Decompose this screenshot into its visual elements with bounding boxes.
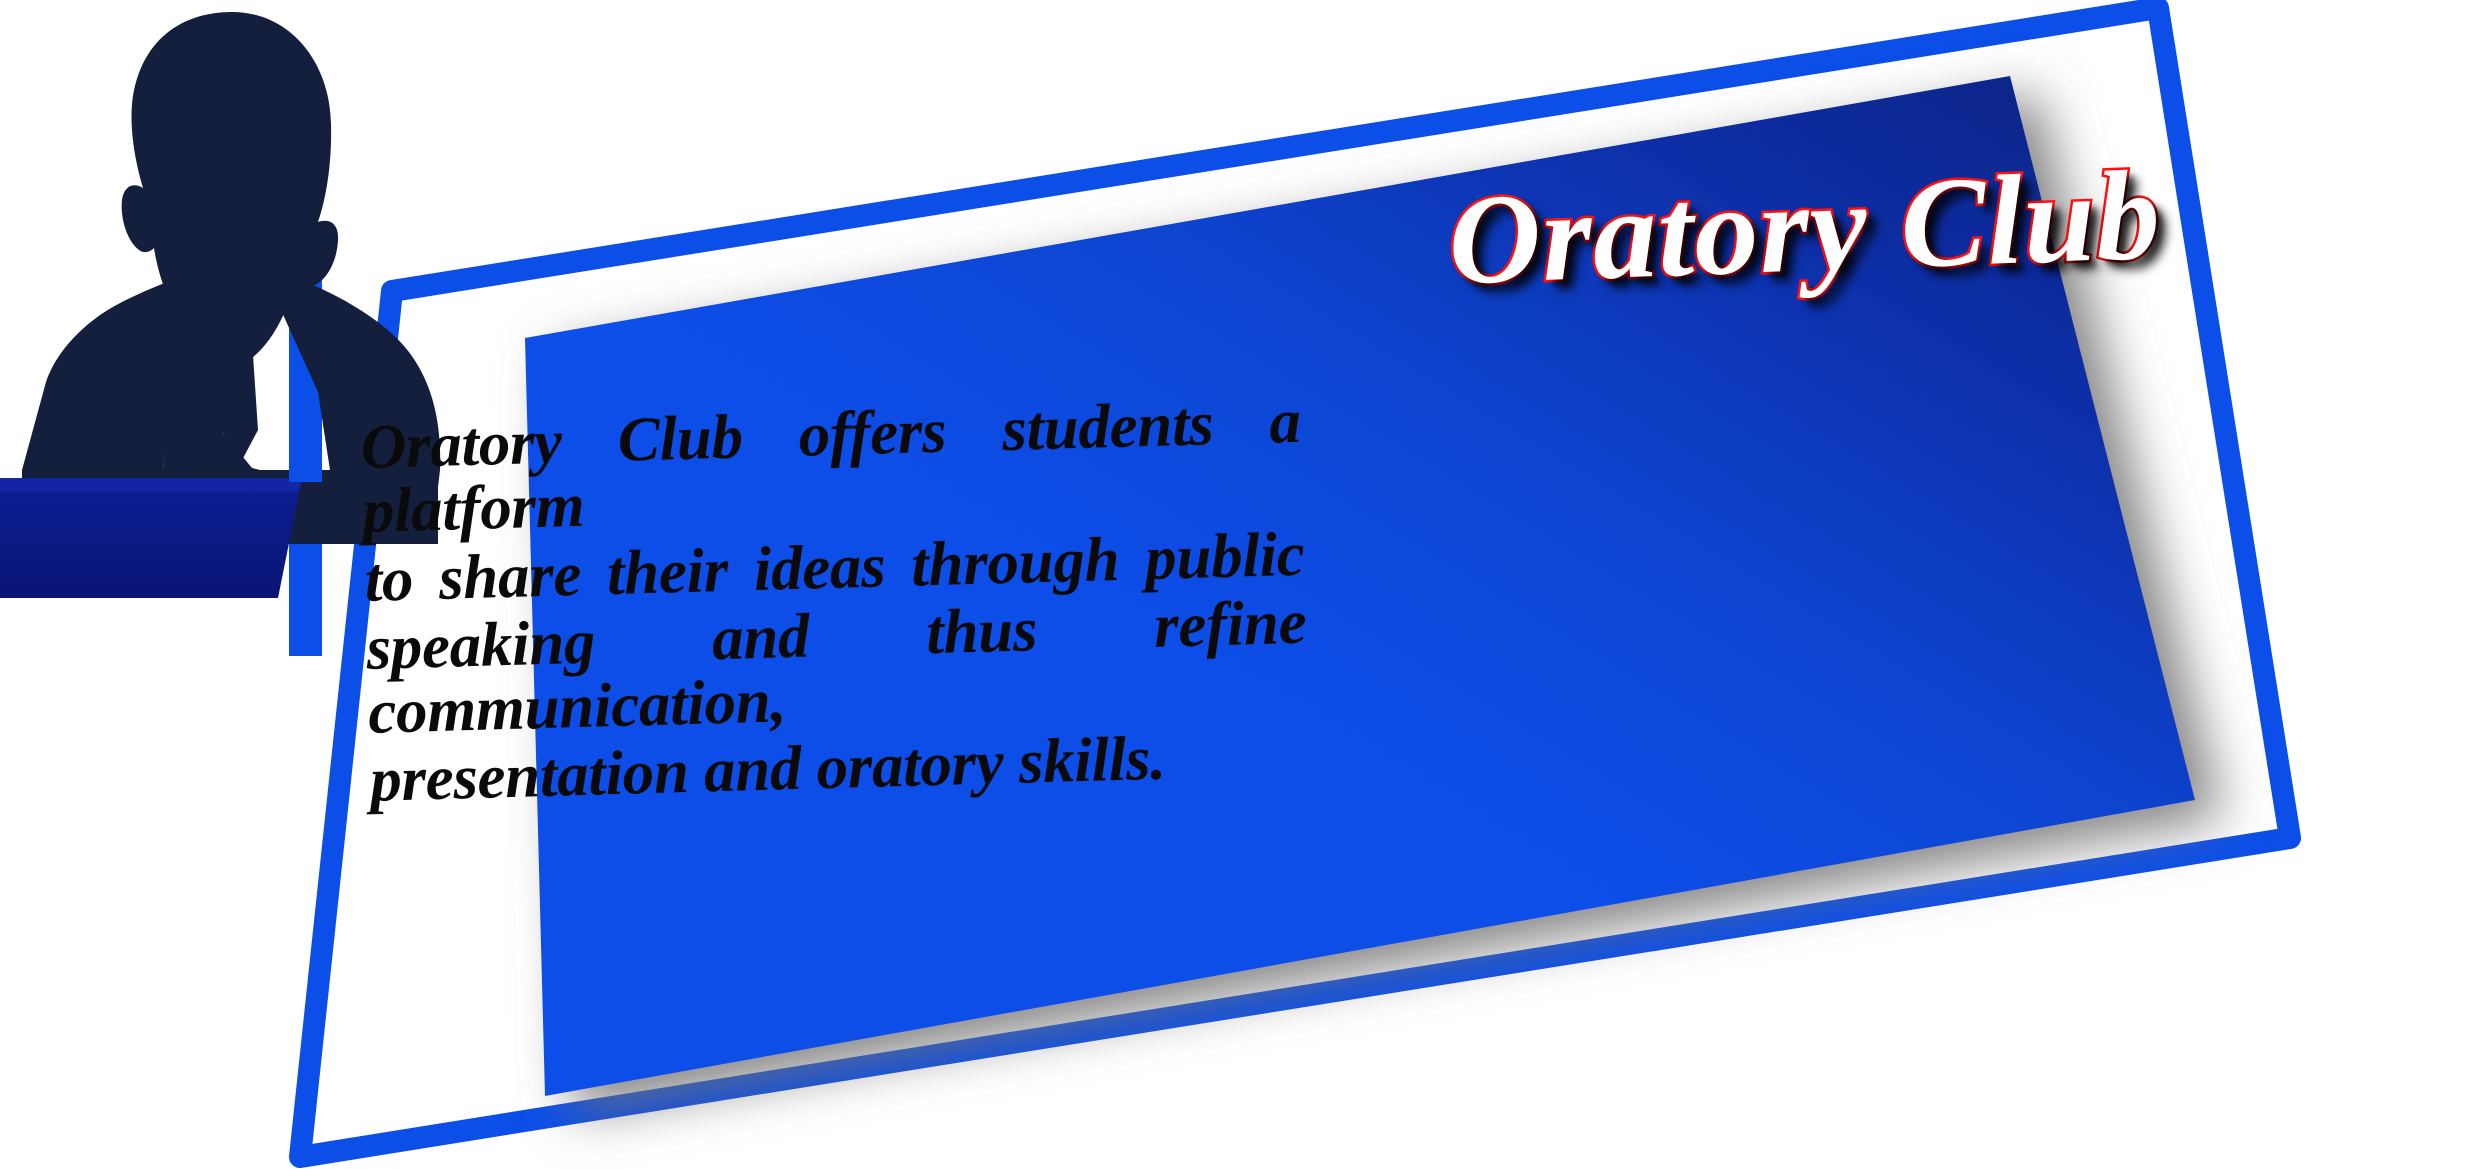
- podium-icon: [0, 478, 302, 598]
- banner-artwork: [0, 0, 2480, 1169]
- speaker-silhouette-icon: [22, 12, 440, 544]
- oratory-club-banner: Oratory Club Oratory Club offers student…: [0, 0, 2480, 1169]
